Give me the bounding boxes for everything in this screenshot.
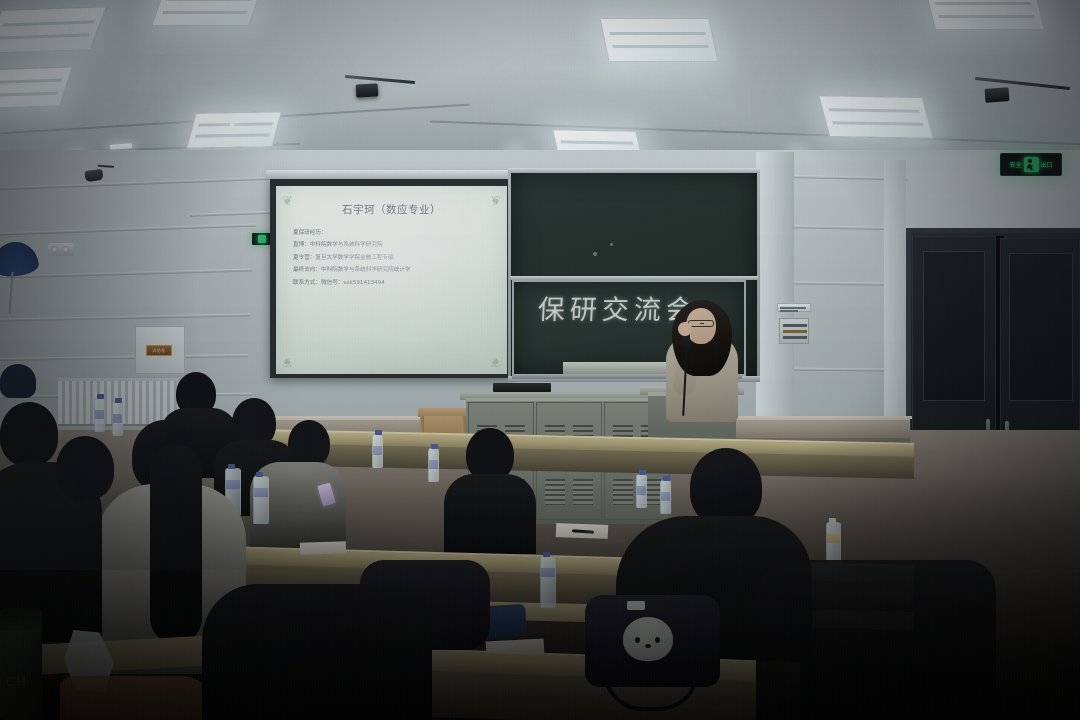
water-bottle[interactable]: [112, 402, 123, 436]
notebook: [300, 541, 346, 555]
door-glass-panel: [1009, 253, 1073, 401]
slide-line: 最终去向：中科院数学与系统科学研究院统计学: [293, 268, 493, 274]
slide-line: 联系方式：微信号：sxk591413494: [293, 281, 493, 287]
console-device: [493, 383, 551, 392]
projector: [985, 87, 1010, 103]
foreground-person: [756, 560, 996, 720]
water-bottle[interactable]: [94, 398, 105, 432]
food-tray: [60, 676, 220, 720]
thermos-label: CH: [6, 674, 27, 689]
foreground-person: [202, 584, 432, 720]
running-man-icon: [1024, 157, 1039, 172]
classroom-photograph: 消防栓 ❦ ❦ ❦ ❦ 石宇珂（数应专业） 夏保研经历： 直博：中科院数学与系统…: [0, 0, 1080, 720]
water-bottle[interactable]: [636, 474, 647, 508]
backpack-tag: [627, 601, 645, 610]
slide-ornament-icon: ❦: [490, 355, 501, 368]
cartoon-face-icon: [623, 617, 673, 661]
water-bottle[interactable]: [540, 556, 556, 608]
slide-line: 直博：中科院数学与系统科学研究院: [293, 243, 493, 249]
slide-body: 夏保研经历： 直博：中科院数学与系统科学研究院 夏令营：复旦大学数学学院金融工程…: [293, 231, 493, 293]
wall-notice: [777, 303, 811, 312]
slide-title: 石宇珂（数应专业）: [276, 202, 507, 217]
downlight: [228, 122, 236, 127]
audience-cap: [0, 364, 36, 398]
ceiling-light-panel: [0, 6, 107, 54]
chalk-dust: [610, 243, 613, 246]
ceiling-light-panel: [925, 0, 1045, 30]
projection-screen-roller: [266, 170, 516, 179]
blackboard-rail: [508, 168, 760, 173]
chalk-dust: [593, 252, 597, 256]
plaque-label: 消防栓: [152, 348, 166, 354]
blackboard-rail: [510, 276, 758, 280]
projector: [356, 83, 379, 97]
projection-screen: ❦ ❦ ❦ ❦ 石宇珂（数应专业） 夏保研经历： 直博：中科院数学与系统科学研究…: [276, 186, 507, 374]
water-bottle[interactable]: [253, 476, 269, 524]
ceiling-light-panel: [818, 95, 934, 139]
emergency-exit-sign: 安全 出口: [1000, 153, 1062, 176]
audience-head: [0, 402, 58, 466]
door-glass-panel: [923, 251, 985, 401]
glasses-icon: [688, 320, 714, 327]
wall-control-panel[interactable]: [779, 318, 809, 344]
slide-line: 夏保研经历：: [293, 231, 493, 237]
audience-body: [444, 474, 536, 554]
backpack[interactable]: [585, 595, 720, 687]
teacher-desk: [563, 362, 683, 374]
audience-ponytail: [150, 444, 202, 644]
thermos-bottle[interactable]: CH: [0, 608, 42, 720]
water-bottle[interactable]: [428, 448, 439, 482]
presenter-hand: [678, 322, 692, 336]
thermos-cap: [0, 608, 42, 630]
exit-sign-right-text: 出口: [1041, 160, 1053, 169]
emergency-exit-indicator-icon: [252, 233, 271, 245]
water-bottle[interactable]: [660, 480, 671, 514]
audience-head: [288, 420, 330, 468]
fire-equipment-plaque: 消防栓: [146, 345, 172, 356]
ceiling-light-panel: [186, 111, 282, 148]
emergency-light: [48, 243, 74, 256]
audience-head: [690, 448, 762, 526]
slide-line: 夏令营：复旦大学数学学院金融工程专硕: [293, 256, 493, 262]
audience-head: [56, 436, 114, 500]
water-bottle[interactable]: [372, 434, 383, 468]
ceiling-light-panel: [151, 0, 263, 26]
exit-sign-left-text: 安全: [1009, 160, 1021, 169]
ceiling-light-panel: [599, 18, 718, 62]
slide-ornament-icon: ❦: [282, 355, 293, 368]
